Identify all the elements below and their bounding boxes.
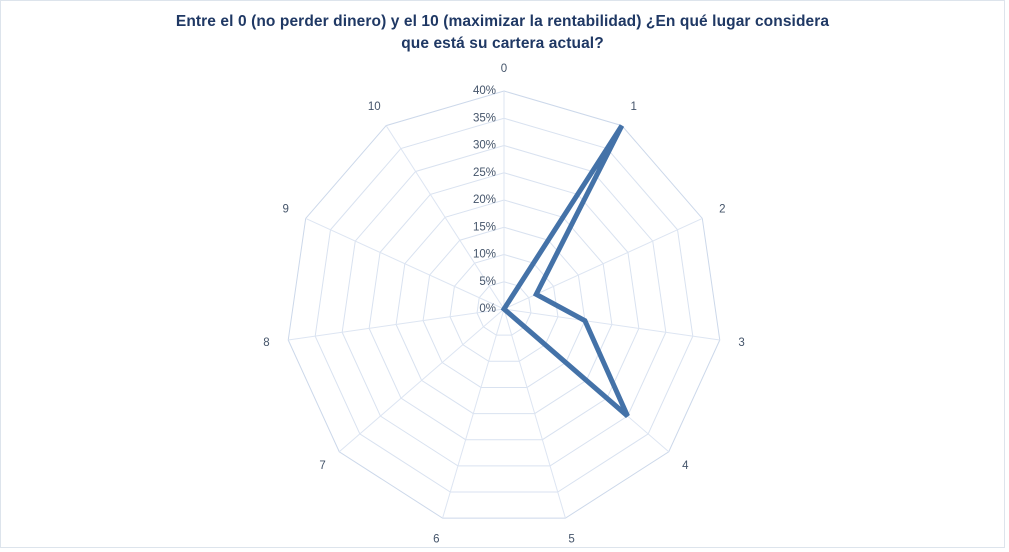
radar-plot-area: 0%5%10%15%20%25%30%35%40% 012345678910	[1, 1, 1006, 549]
radial-tick-label: 35%	[473, 112, 496, 124]
category-label-2: 2	[719, 203, 725, 215]
category-label-5: 5	[568, 533, 574, 545]
category-label-8: 8	[263, 337, 269, 349]
radial-tick-label: 25%	[473, 167, 496, 179]
radar-chart-svg: 0%5%10%15%20%25%30%35%40% 012345678910	[1, 1, 1006, 549]
radial-tick-label: 30%	[473, 140, 496, 152]
category-label-7: 7	[319, 460, 325, 472]
radial-tick-label: 20%	[473, 194, 496, 206]
category-label-3: 3	[738, 337, 744, 349]
category-label-1: 1	[631, 101, 637, 113]
category-label-9: 9	[282, 203, 288, 215]
category-label-4: 4	[682, 460, 689, 472]
category-label-0: 0	[501, 63, 507, 75]
radial-tick-label: 5%	[479, 276, 496, 288]
radial-tick-label: 10%	[473, 249, 496, 261]
radial-axis-labels: 0%5%10%15%20%25%30%35%40%	[473, 85, 496, 315]
category-label-10: 10	[368, 101, 381, 113]
category-label-6: 6	[433, 533, 439, 545]
radial-tick-label: 40%	[473, 85, 496, 97]
radial-tick-label: 0%	[479, 303, 496, 315]
chart-container: Entre el 0 (no perder dinero) y el 10 (m…	[0, 0, 1005, 548]
radar-spoke	[288, 309, 504, 340]
radial-tick-label: 15%	[473, 221, 496, 233]
